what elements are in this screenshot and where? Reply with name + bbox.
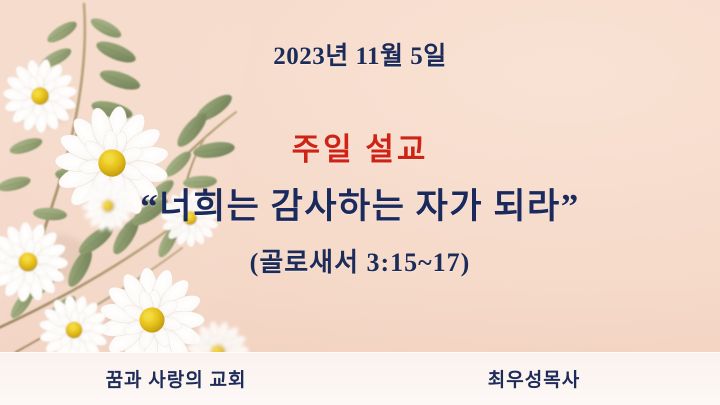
sermon-title: “너희는 감사하는 자가 되라” (0, 178, 720, 229)
sermon-title-card: 2023년 11월 5일 주일 설교 “너희는 감사하는 자가 되라” (골로새… (0, 0, 720, 405)
sermon-date: 2023년 11월 5일 (0, 36, 720, 72)
footer-bar: 꿈과 사랑의 교회 최우성목사 (0, 352, 720, 405)
sermon-kicker-label: 주일 설교 (0, 124, 720, 169)
scripture-reference: (골로새서 3:15~17) (0, 242, 720, 279)
speaker-name: 최우성목사 (354, 365, 714, 392)
church-name: 꿈과 사랑의 교회 (0, 365, 356, 392)
